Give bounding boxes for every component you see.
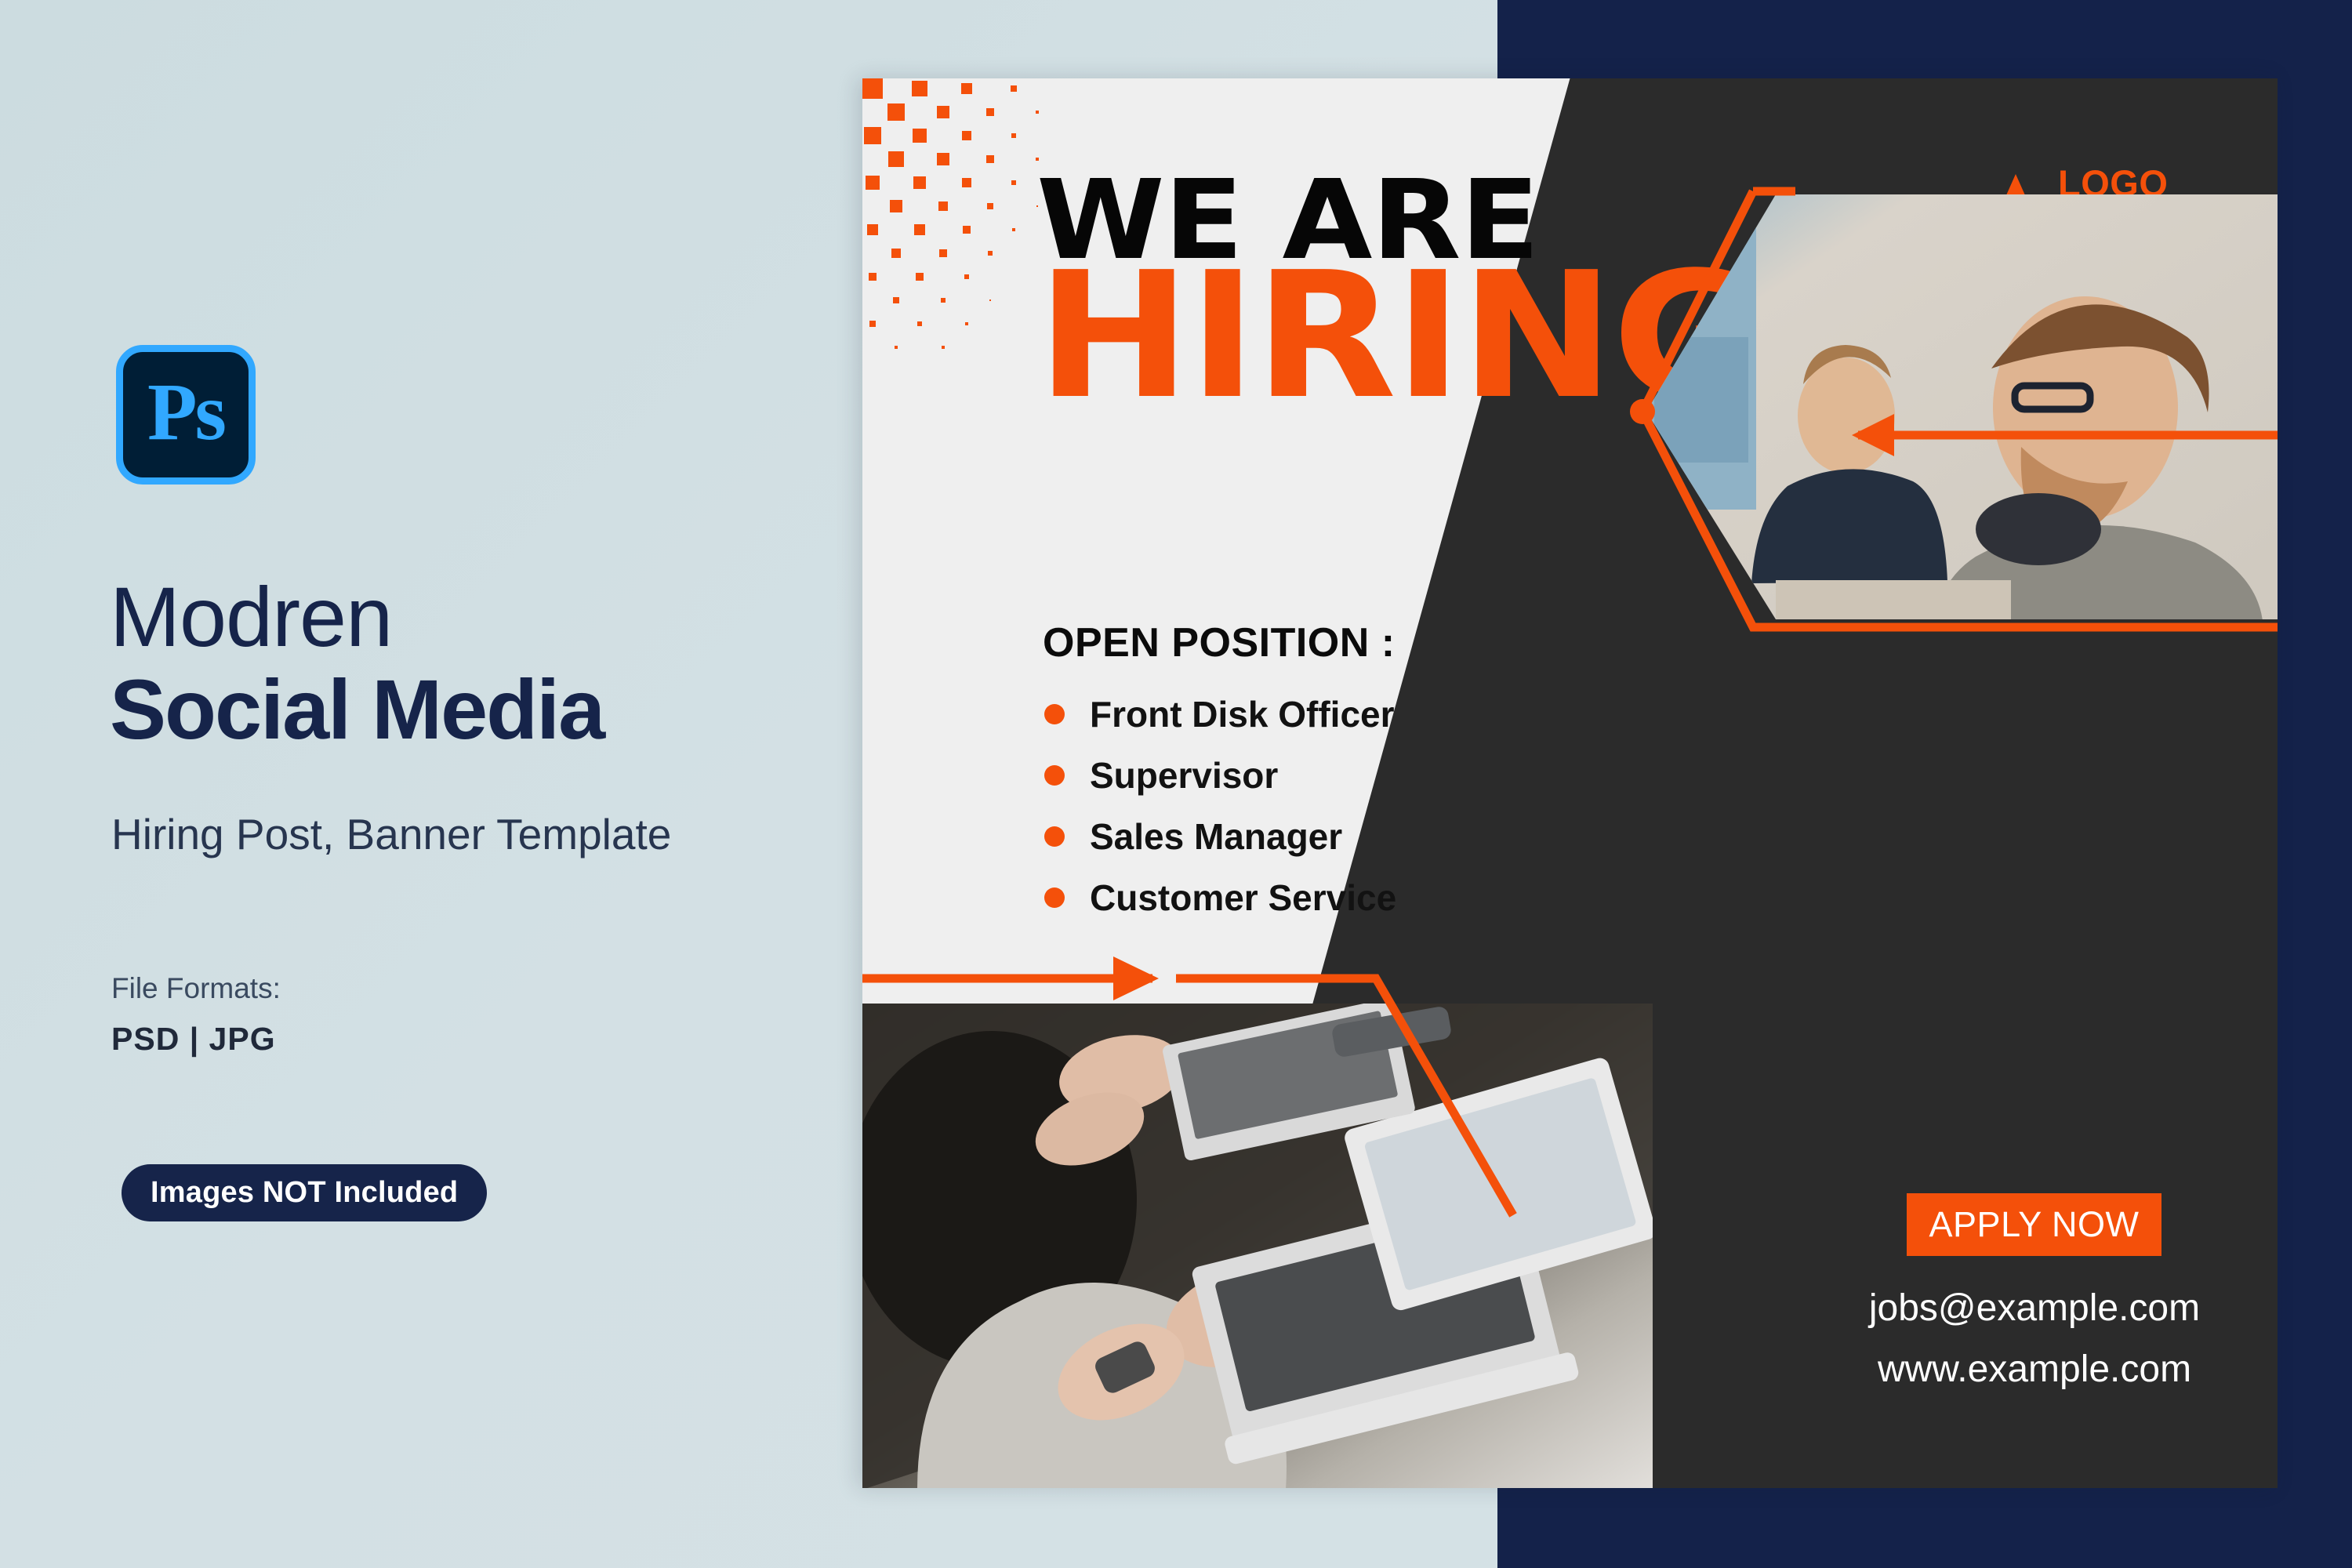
open-position-label: Customer Service (1090, 877, 1396, 919)
halftone-square (916, 273, 924, 281)
halftone-square (986, 108, 994, 116)
logo-flame-icon (1987, 172, 2044, 234)
halftone-square (989, 299, 992, 302)
bullet-dot-icon (1044, 704, 1065, 724)
halftone-square (914, 224, 924, 234)
contact-website[interactable]: www.example.com (1740, 1339, 2278, 1400)
halftone-square (937, 106, 949, 118)
halftone-square (893, 297, 900, 304)
poster-preview[interactable]: WE ARE HIRING LOGO HERE (862, 78, 2278, 1488)
halftone-square (913, 176, 926, 189)
halftone-square (869, 273, 877, 281)
halftone-square (965, 322, 967, 325)
promo-title-line2: Social Media (110, 665, 831, 754)
halftone-square (962, 131, 972, 141)
promo-subtitle: Hiring Post, Banner Template (111, 808, 676, 862)
halftone-square (890, 200, 902, 212)
halftone-square (866, 176, 880, 190)
halftone-square (912, 81, 927, 96)
halftone-square (964, 274, 969, 279)
logo-text-bottom: HERE (2058, 205, 2168, 241)
apply-now-label: APPLY NOW (1929, 1204, 2140, 1245)
logo-text-top: LOGO (2058, 165, 2168, 201)
halftone-square (938, 201, 949, 212)
halftone-square (963, 226, 970, 233)
file-formats-value: PSD | JPG (111, 1021, 276, 1058)
halftone-square (942, 346, 944, 348)
images-not-included-badge: Images NOT Included (122, 1164, 487, 1221)
halftone-square (1011, 180, 1016, 185)
halftone-square (864, 127, 881, 144)
halftone-square (913, 129, 927, 143)
open-position-item: Sales Manager (1044, 806, 1640, 867)
halftone-square (867, 224, 879, 236)
halftone-square (937, 153, 949, 165)
halftone-square (1012, 228, 1015, 231)
halftone-square (939, 249, 947, 257)
open-position-list: Front Disk OfficerSupervisorSales Manage… (1044, 684, 1640, 928)
open-position-item: Customer Service (1044, 867, 1640, 928)
screenshot-root: Ps Modren Social Media Hiring Post, Bann… (0, 0, 2352, 1568)
open-position-title: OPEN POSITION : (1043, 619, 1396, 666)
halftone-square (891, 249, 901, 258)
logo-text: LOGO HERE (2058, 165, 2168, 241)
promo-title: Modren Social Media (110, 572, 831, 755)
halftone-square (1011, 85, 1016, 91)
apply-now-button[interactable]: APPLY NOW (1907, 1193, 2161, 1256)
halftone-square (869, 321, 875, 326)
open-position-item: Front Disk Officer (1044, 684, 1640, 745)
file-formats-label: File Formats: (111, 972, 281, 1005)
halftone-square (962, 178, 971, 187)
halftone-square (961, 83, 972, 94)
open-position-item: Supervisor (1044, 745, 1640, 806)
halftone-square (987, 203, 993, 209)
open-position-label: Sales Manager (1090, 815, 1342, 858)
halftone-square (888, 151, 904, 167)
open-position-label: Supervisor (1090, 754, 1278, 797)
logo: LOGO HERE (1987, 165, 2168, 241)
promo-title-line1: Modren (110, 572, 831, 662)
contact-email[interactable]: jobs@example.com (1740, 1278, 2278, 1339)
halftone-square (917, 321, 922, 326)
photoshop-icon-label: Ps (147, 372, 224, 453)
open-position-label: Front Disk Officer (1090, 693, 1395, 735)
bullet-dot-icon (1044, 887, 1065, 908)
halftone-square (895, 346, 898, 350)
halftone-square (1036, 111, 1039, 114)
photoshop-icon: Ps (116, 345, 256, 485)
bullet-dot-icon (1044, 826, 1065, 847)
images-not-included-label: Images NOT Included (151, 1176, 458, 1210)
headline-hiring: HIRING (1036, 249, 1761, 423)
halftone-square (986, 155, 993, 162)
promo-column: Ps Modren Social Media Hiring Post, Bann… (0, 0, 862, 1568)
halftone-square (941, 298, 946, 303)
logo-flame-svg (1987, 172, 2044, 234)
bullet-dot-icon (1044, 765, 1065, 786)
halftone-square (1011, 133, 1017, 139)
halftone-square (862, 78, 883, 99)
contact-block: jobs@example.com www.example.com (1740, 1278, 2278, 1400)
halftone-square (887, 103, 905, 121)
halftone-square (988, 251, 993, 256)
